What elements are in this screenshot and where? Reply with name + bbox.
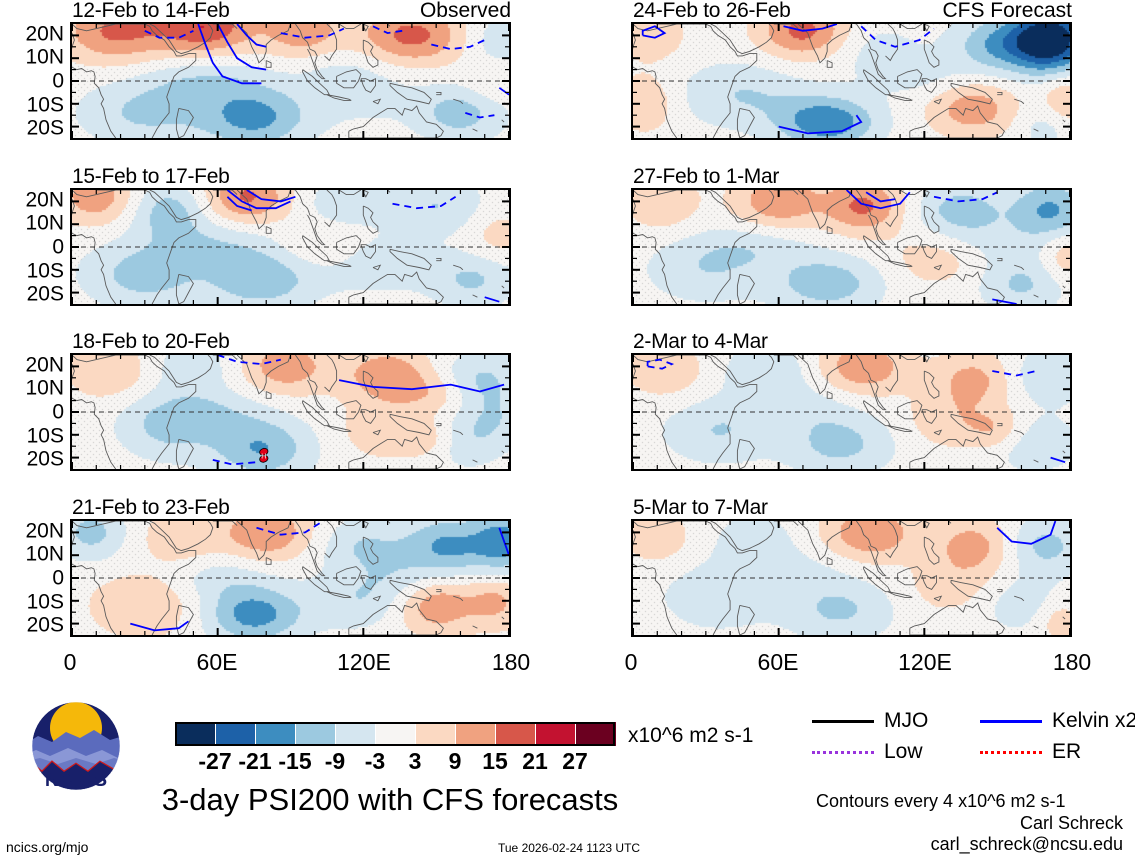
map-overlay	[72, 24, 509, 138]
y-axis-labels: 20N10N010S20S	[8, 188, 70, 306]
map-plot-area	[631, 22, 1072, 140]
kelvin-wave-contours	[145, 24, 509, 118]
map-panel-3: 15-Feb to 17-Feb20N10N010S20S	[8, 166, 511, 310]
map-plot-area: H	[70, 353, 511, 471]
map-panel-7: 21-Feb to 23-Feb20N10N010S20S	[8, 497, 511, 641]
panel-grid: 12-Feb to 14-FebObserved20N10N010S20S24-…	[0, 0, 1135, 690]
colorbar-divider	[375, 722, 376, 746]
x-axis-tick-label: 0	[625, 647, 638, 677]
colorbar-segment	[335, 722, 376, 746]
map-overlay: H	[72, 355, 509, 469]
legend-label: Kelvin x2	[1052, 708, 1135, 734]
map-overlay	[72, 190, 509, 304]
kelvin-wave-contours	[213, 355, 504, 464]
map-panel-6: 2-Mar to 4-Mar	[569, 331, 1072, 475]
map-overlay	[633, 190, 1070, 304]
y-axis-tick-label: 10N	[25, 378, 64, 399]
site-url: ncics.org/mjo	[6, 838, 88, 856]
x-axis-tick-label: 120E	[337, 647, 391, 677]
y-axis-tick-label: 10S	[27, 94, 64, 115]
x-axis-tick-label: 180	[1053, 647, 1091, 677]
y-axis-tick-label: 20S	[27, 449, 64, 470]
map-plot-area	[70, 188, 511, 306]
x-axis-tick-label: 60E	[197, 647, 238, 677]
svg-text:H: H	[261, 453, 266, 460]
panel-title: 15-Feb to 17-Feb	[72, 166, 229, 187]
colorbar-divider	[215, 722, 216, 746]
colorbar-segment	[215, 722, 256, 746]
colorbar-tick-label: 27	[562, 748, 588, 774]
map-overlay	[633, 24, 1070, 138]
page-title: 3-day PSI200 with CFS forecasts	[0, 782, 780, 818]
colorbar-segment	[575, 722, 616, 746]
panel-corner-label: CFS Forecast	[942, 0, 1072, 21]
y-axis-tick-label: 0	[52, 71, 64, 92]
colorbar-divider	[535, 722, 536, 746]
x-axis-tick-label: 180	[492, 647, 530, 677]
colorbar-divider	[255, 722, 256, 746]
panel-title: 27-Feb to 1-Mar	[633, 166, 779, 187]
y-axis-tick-label: 10N	[25, 47, 64, 68]
y-axis-tick-label: 20N	[25, 189, 64, 210]
y-axis-labels: 20N10N010S20S	[8, 519, 70, 637]
timestamp: Tue 2026-02-24 1123 UTC	[498, 840, 640, 856]
ncics-logo: NCICS	[22, 700, 130, 792]
colorbar-divider	[295, 722, 296, 746]
y-axis-tick-label: 0	[52, 402, 64, 423]
y-axis-tick-label: 10S	[27, 425, 64, 446]
colorbar-tick-label: -21	[238, 748, 271, 774]
map-plot-area	[70, 22, 511, 140]
y-axis-tick-label: 20S	[27, 118, 64, 139]
y-axis-tick-label: 10N	[25, 213, 64, 234]
map-plot-area	[631, 353, 1072, 471]
y-axis-tick-label: 20N	[25, 354, 64, 375]
panel-title: 2-Mar to 4-Mar	[633, 331, 768, 352]
colorbar-divider	[415, 722, 416, 746]
panel-title: 12-Feb to 14-Feb	[72, 0, 229, 21]
author-email: carl_schreck@ncsu.edu	[931, 833, 1123, 855]
legend-label: ER	[1052, 739, 1081, 765]
colorbar-tick-label: 15	[482, 748, 508, 774]
kelvin-wave-contours	[643, 24, 934, 133]
y-axis-tick-label: 10S	[27, 591, 64, 612]
colorbar-divider	[575, 722, 576, 746]
colorbar	[175, 722, 615, 746]
contour-interval-note: Contours every 4 x10^6 m2 s-1	[816, 790, 1066, 812]
legend-line-swatch	[812, 720, 874, 723]
colorbar-tick-label: 9	[449, 748, 462, 774]
legend-line-swatch	[980, 720, 1042, 723]
x-axis-labels: 060E120E180	[631, 647, 1072, 677]
panel-title: 5-Mar to 7-Mar	[633, 497, 768, 518]
map-panel-4: 27-Feb to 1-Mar	[569, 166, 1072, 310]
y-axis-tick-label: 20N	[25, 520, 64, 541]
legend-label: MJO	[884, 708, 928, 734]
y-axis-tick-label: 20S	[27, 284, 64, 305]
map-panel-5: 18-Feb to 20-Feb20N10N010S20SH	[8, 331, 511, 475]
map-plot-area	[631, 519, 1072, 637]
y-axis-tick-label: 20S	[27, 615, 64, 636]
colorbar-tick-labels: -27-21-15-9-339152127	[175, 748, 615, 774]
ncics-logo-icon: NCICS	[22, 700, 130, 792]
y-axis-tick-label: 0	[52, 237, 64, 258]
map-overlay	[633, 521, 1070, 635]
map-plot-area	[70, 519, 511, 637]
kelvin-wave-contours	[648, 360, 1066, 463]
colorbar-segment	[415, 722, 456, 746]
contour-legend: MJOKelvin x2LowER	[812, 708, 1122, 766]
panel-title: 18-Feb to 20-Feb	[72, 331, 229, 352]
y-axis-tick-label: 0	[52, 568, 64, 589]
colorbar-tick-label: -9	[325, 748, 345, 774]
colorbar-segment	[175, 722, 216, 746]
colorbar-tick-label: -3	[365, 748, 385, 774]
y-axis-labels: 20N10N010S20S	[8, 353, 70, 471]
y-axis-tick-label: 10S	[27, 260, 64, 281]
y-axis-tick-label: 20N	[25, 23, 64, 44]
colorbar-tick-label: -15	[278, 748, 311, 774]
colorbar-segment	[255, 722, 296, 746]
colorbar-divider	[495, 722, 496, 746]
author-name: Carl Schreck	[1020, 812, 1123, 834]
x-axis-labels: 060E120E180	[70, 647, 511, 677]
map-overlay	[72, 521, 509, 635]
kelvin-wave-contours	[997, 521, 1055, 544]
colorbar-segment	[495, 722, 536, 746]
x-axis-tick-label: 0	[64, 647, 77, 677]
legend-line-swatch	[812, 751, 874, 754]
colorbar-segment	[375, 722, 416, 746]
panel-corner-label: Observed	[420, 0, 511, 21]
map-panel-2: 24-Feb to 26-FebCFS Forecast	[569, 0, 1072, 144]
y-axis-labels: 20N10N010S20S	[8, 22, 70, 140]
map-plot-area	[631, 188, 1072, 306]
colorbar-units-label: x10^6 m2 s-1	[628, 724, 753, 748]
legend-line-swatch	[980, 751, 1042, 754]
panel-title: 24-Feb to 26-Feb	[633, 0, 790, 21]
kelvin-wave-contours	[130, 523, 509, 630]
colorbar-segment	[455, 722, 496, 746]
colorbar-divider	[335, 722, 336, 746]
colorbar-tick-label: -27	[198, 748, 231, 774]
colorbar-segment	[295, 722, 336, 746]
map-panel-8: 5-Mar to 7-Mar	[569, 497, 1072, 641]
colorbar-segment	[535, 722, 576, 746]
panel-title: 21-Feb to 23-Feb	[72, 497, 229, 518]
tropical-cyclone-marker: H	[260, 448, 268, 462]
colorbar-tick-label: 21	[522, 748, 548, 774]
map-panel-1: 12-Feb to 14-FebObserved20N10N010S20S	[8, 0, 511, 144]
colorbar-divider	[455, 722, 456, 746]
x-axis-tick-label: 120E	[898, 647, 952, 677]
legend-label: Low	[884, 739, 923, 765]
map-overlay	[633, 355, 1070, 469]
y-axis-tick-label: 10N	[25, 544, 64, 565]
colorbar-tick-label: 3	[409, 748, 422, 774]
x-axis-tick-label: 60E	[758, 647, 799, 677]
